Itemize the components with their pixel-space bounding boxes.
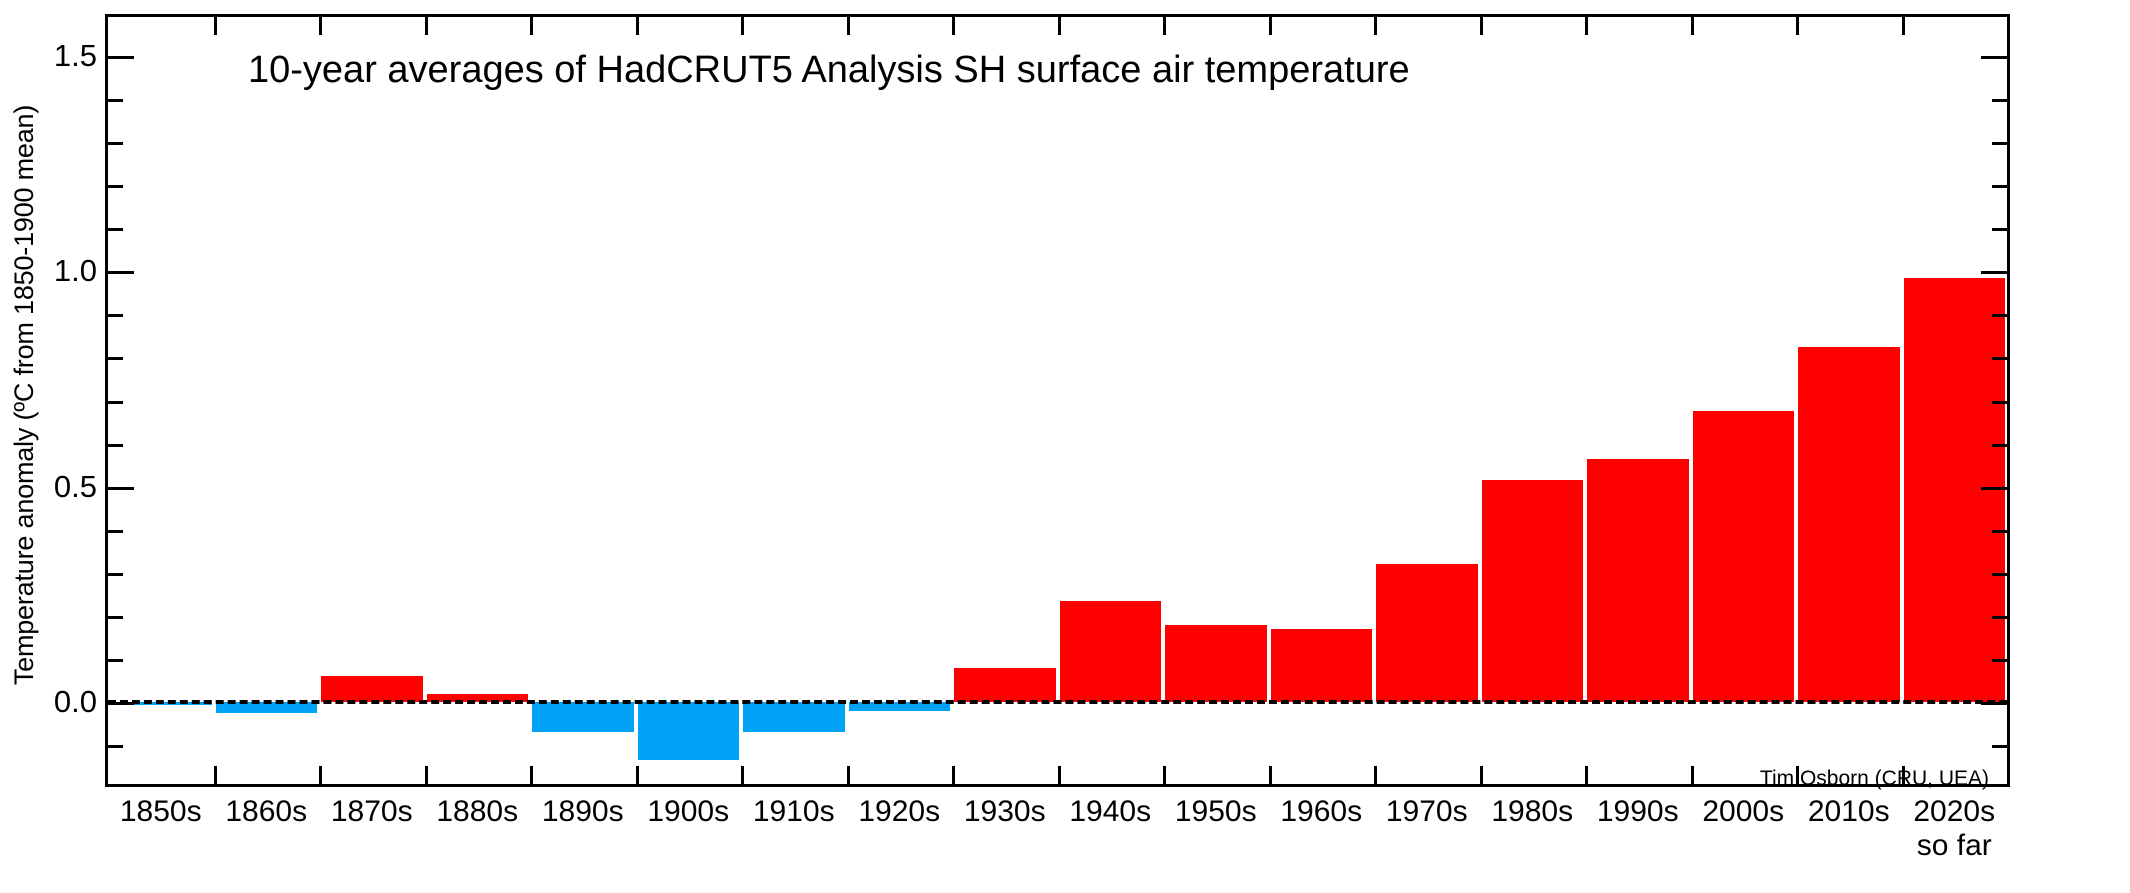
- credit-annotation: Tim Osborn (CRU, UEA): [1760, 768, 1989, 790]
- y-tick-0.4-r: [1992, 530, 2007, 533]
- x-tick-16-b: [1796, 766, 1799, 784]
- y-tick-0.2-l: [108, 616, 123, 619]
- y-tick-0.5-r: [1981, 487, 2007, 490]
- y-tick-0.7-r: [1992, 401, 2007, 404]
- x-tick-label-decade: 1980s: [1491, 795, 1573, 828]
- y-tick-0.3-r: [1992, 573, 2007, 576]
- y-tick-label-1.5: 1.5: [9, 40, 97, 71]
- y-tick-1.3-r: [1992, 142, 2007, 145]
- x-tick-4-b: [530, 766, 533, 784]
- y-tick-0.6-r: [1992, 444, 2007, 447]
- x-tick-7-t: [847, 17, 850, 35]
- x-tick-15-b: [1691, 766, 1694, 784]
- y-tick-0.1-r: [1992, 659, 2007, 662]
- bar-1870s: [321, 676, 423, 702]
- y-tick-1.0-r: [1981, 271, 2007, 274]
- x-tick-12-b: [1374, 766, 1377, 784]
- x-tick-label-decade: 1960s: [1280, 795, 1362, 828]
- y-tick-1.5-r: [1981, 56, 2007, 59]
- y-tick-0.0-l: [108, 702, 134, 705]
- x-tick-14-b: [1585, 766, 1588, 784]
- bar-1980s: [1482, 480, 1584, 702]
- x-tick-label-decade: 1950s: [1175, 795, 1257, 828]
- y-tick-0.8-r: [1992, 357, 2007, 360]
- x-tick-6-b: [741, 766, 744, 784]
- y-tick-1.1-l: [108, 228, 123, 231]
- bar-2000s: [1693, 411, 1795, 702]
- y-axis-label: Temperature anomaly (ºC from 1850-1900 m…: [2, 0, 46, 790]
- bar-1890s: [532, 702, 634, 732]
- y-tick-label-0.5: 0.5: [9, 471, 97, 502]
- x-tick-label-decade: 2010s: [1808, 795, 1890, 828]
- y-tick--0.1-r: [1992, 745, 2007, 748]
- y-tick-0.4-l: [108, 530, 123, 533]
- plot-area: 10-year averages of HadCRUT5 Analysis SH…: [105, 14, 2010, 787]
- x-tick-label-decade: 1920s: [858, 795, 940, 828]
- x-tick-12-t: [1374, 17, 1377, 35]
- y-tick-0.6-l: [108, 444, 123, 447]
- x-tick-15-t: [1691, 17, 1694, 35]
- x-tick-2-t: [319, 17, 322, 35]
- bar-1930s: [954, 668, 1056, 702]
- chart-title: 10-year averages of HadCRUT5 Analysis SH…: [248, 50, 1410, 90]
- x-tick-9-t: [1058, 17, 1061, 35]
- y-tick-0.1-l: [108, 659, 123, 662]
- x-tick-4-t: [530, 17, 533, 35]
- x-tick-3-b: [425, 766, 428, 784]
- x-tick-2-b: [319, 766, 322, 784]
- x-tick-7-b: [847, 766, 850, 784]
- x-tick-label-decade: 1990s: [1597, 795, 1679, 828]
- bar-1940s: [1060, 601, 1162, 702]
- x-tick-label-decade: 1870s: [331, 795, 413, 828]
- y-tick-1.3-l: [108, 142, 123, 145]
- x-tick-6-t: [741, 17, 744, 35]
- x-tick-5-t: [636, 17, 639, 35]
- y-tick-1.2-l: [108, 185, 123, 188]
- x-tick-label-decade: 1900s: [647, 795, 729, 828]
- bar-2010s: [1798, 347, 1900, 702]
- y-tick-0.3-l: [108, 573, 123, 576]
- x-tick-label-decade: 1970s: [1386, 795, 1468, 828]
- y-tick-0.5-l: [108, 487, 134, 490]
- bar-1970s: [1376, 564, 1478, 702]
- x-tick-5-b: [636, 766, 639, 784]
- y-tick-1.4-r: [1992, 99, 2007, 102]
- x-tick-11-b: [1269, 766, 1272, 784]
- x-tick-10-b: [1163, 766, 1166, 784]
- x-tick-16-t: [1796, 17, 1799, 35]
- y-tick-label-0.0: 0.0: [9, 686, 97, 717]
- x-tick-1-t: [214, 17, 217, 35]
- x-tick-label-decade: 2020s: [1913, 795, 1995, 828]
- zero-reference-line: [108, 700, 2007, 704]
- y-tick-1.2-r: [1992, 185, 2007, 188]
- x-tick-label-decade: 1880s: [436, 795, 518, 828]
- bar-1960s: [1271, 629, 1373, 702]
- x-tick-9-b: [1058, 766, 1061, 784]
- bar-1990s: [1587, 459, 1689, 702]
- x-tick-1-b: [214, 766, 217, 784]
- plot-inner: [108, 17, 2007, 784]
- y-tick-0.2-r: [1992, 616, 2007, 619]
- x-tick-label-decade: 1850s: [120, 795, 202, 828]
- y-tick-1.5-l: [108, 56, 134, 59]
- y-tick-0.7-l: [108, 401, 123, 404]
- x-tick-17-t: [1902, 17, 1905, 35]
- x-tick-3-t: [425, 17, 428, 35]
- y-tick-0.8-l: [108, 357, 123, 360]
- bar-1900s: [638, 702, 740, 760]
- x-tick-label-decade: 1890s: [542, 795, 624, 828]
- x-tick-8-b: [952, 766, 955, 784]
- x-tick-13-b: [1480, 766, 1483, 784]
- bar-2020s: [1904, 278, 2006, 702]
- y-tick-label-1.0: 1.0: [9, 255, 97, 286]
- y-tick-0.9-l: [108, 314, 123, 317]
- bar-1910s: [743, 702, 845, 732]
- x-tick-label-decade: 1860s: [225, 795, 307, 828]
- x-tick-label-decade: 2000s: [1702, 795, 1784, 828]
- x-tick-10-t: [1163, 17, 1166, 35]
- x-tick-label-decade: 1930s: [964, 795, 1046, 828]
- y-tick-1.4-l: [108, 99, 123, 102]
- x-tick-11-t: [1269, 17, 1272, 35]
- chart-figure: Temperature anomaly (ºC from 1850-1900 m…: [0, 0, 2130, 893]
- x-tick-17-b: [1902, 766, 1905, 784]
- x-tick-label-decade: 1910s: [753, 795, 835, 828]
- y-tick-1.1-r: [1992, 228, 2007, 231]
- x-tick-14-t: [1585, 17, 1588, 35]
- x-tick-label-sublabel: so far: [1884, 829, 2024, 863]
- x-tick-13-t: [1480, 17, 1483, 35]
- x-tick-8-t: [952, 17, 955, 35]
- x-tick-label-2020s: 2020sso far: [1884, 795, 2024, 863]
- y-tick-0.9-r: [1992, 314, 2007, 317]
- x-tick-label-decade: 1940s: [1069, 795, 1151, 828]
- y-tick-0.0-r: [1981, 702, 2007, 705]
- y-tick-1.0-l: [108, 271, 134, 274]
- bar-1950s: [1165, 625, 1267, 703]
- y-tick--0.1-l: [108, 745, 123, 748]
